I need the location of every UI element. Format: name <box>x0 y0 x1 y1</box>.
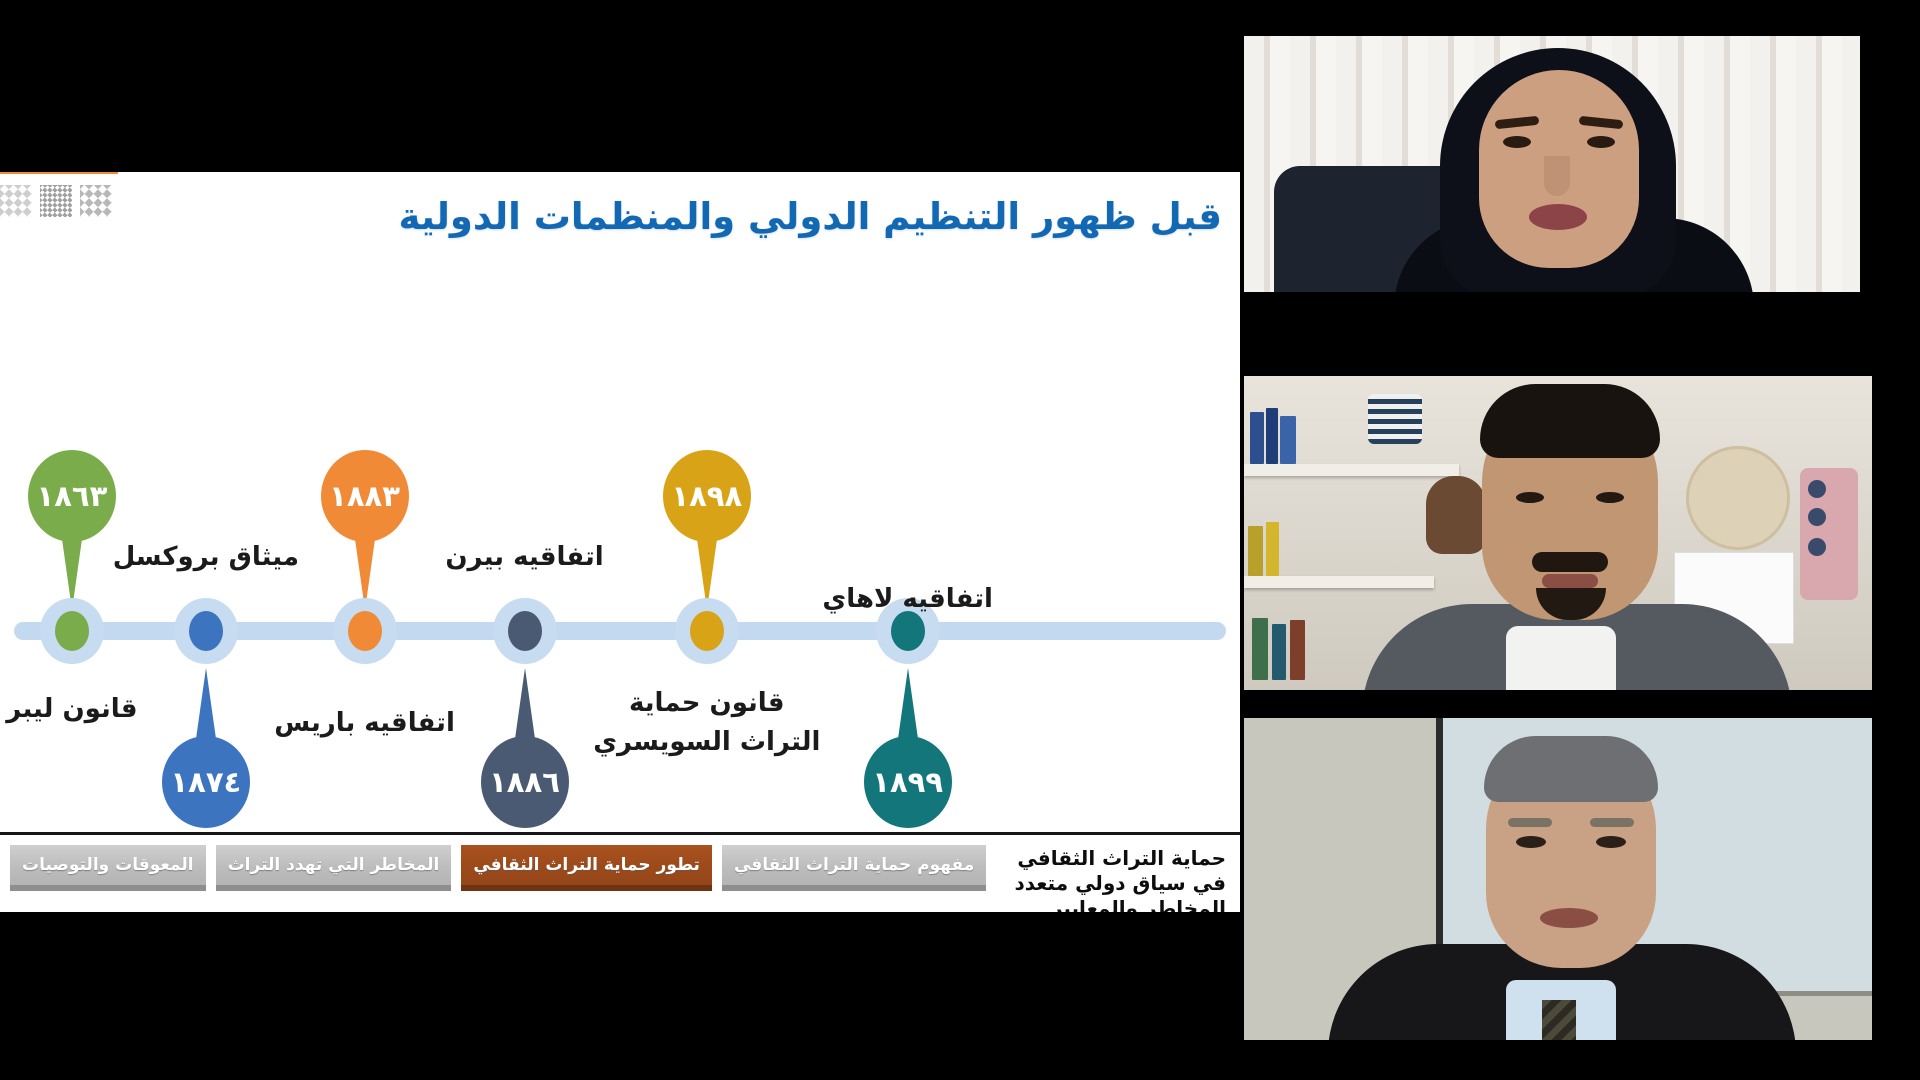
book <box>1252 618 1268 680</box>
eye-right <box>1596 492 1624 503</box>
dress-shirt <box>1506 626 1616 690</box>
timeline-year-badge: ١٨٨٦ <box>481 736 569 828</box>
mouth <box>1529 204 1587 230</box>
decorative-basket <box>1368 394 1422 444</box>
eye-left <box>1516 492 1544 503</box>
timeline-year-badge: ١٨٩٨ <box>663 450 751 542</box>
bookshelf <box>1244 464 1459 476</box>
timeline-pin: ١٨٦٣ <box>28 450 116 610</box>
book <box>1250 412 1264 464</box>
participant-video-tile[interactable] <box>1244 718 1872 1040</box>
timeline-pin: ١٨٨٦ <box>481 668 569 828</box>
video-feed <box>1244 376 1872 690</box>
nose <box>1544 156 1570 196</box>
eyebrow-left <box>1508 818 1552 827</box>
timeline-node[interactable] <box>333 598 397 664</box>
timeline-pin: ١٨٨٣ <box>321 450 409 610</box>
timeline-node[interactable] <box>174 598 238 664</box>
deck-title: حماية التراث الثقافي في سياق دولي متعدد … <box>996 845 1232 912</box>
timeline-year-badge: ١٨٧٤ <box>162 736 250 828</box>
nav-tab-obstacles[interactable]: المعوقات والتوصيات <box>10 845 206 891</box>
moustache <box>1532 552 1608 572</box>
decorative-plate <box>1686 446 1790 550</box>
eyebrow-right <box>1590 818 1634 827</box>
shared-slide[interactable]: قبل ظهور التنظيم الدولي والمنظمات الدولي… <box>0 172 1240 912</box>
timeline-node[interactable] <box>675 598 739 664</box>
necktie <box>1542 1000 1576 1040</box>
eye-right <box>1596 836 1626 848</box>
accent-bar <box>0 172 118 174</box>
timeline-graphic: ١٨٦٣ قانون ليبر ١٨٧٤ ميثاق بروكسل ١٨٨٣ <box>0 472 1240 802</box>
video-feed <box>1244 718 1872 1040</box>
timeline-pin: ١٨٩٩ <box>864 668 952 828</box>
timeline-event-label: اتفاقيه بيرن <box>395 538 655 577</box>
mouth <box>1540 908 1598 928</box>
timeline-year-badge: ١٨٦٣ <box>28 450 116 542</box>
bookshelf <box>1244 576 1434 588</box>
book <box>1248 526 1263 576</box>
book <box>1290 620 1305 680</box>
slide-section-nav: المعوقات والتوصيات المخاطر التي تهدد الت… <box>0 832 1240 912</box>
timeline-year-badge: ١٨٩٩ <box>864 736 952 828</box>
participant-video-tile[interactable] <box>1244 36 1860 292</box>
book <box>1266 522 1279 576</box>
nav-tab-concept[interactable]: مفهوم حماية التراث الثقافي <box>722 845 986 891</box>
smartphone <box>1800 468 1858 600</box>
hair <box>1480 384 1660 458</box>
mouth <box>1542 574 1598 588</box>
timeline-year-badge: ١٨٨٣ <box>321 450 409 542</box>
book <box>1272 624 1286 680</box>
timeline-pin: ١٨٩٨ <box>663 450 751 610</box>
nav-tab-risks[interactable]: المخاطر التي تهدد التراث <box>216 845 452 891</box>
hair <box>1484 736 1658 802</box>
timeline-event-label: ميثاق بروكسل <box>76 538 336 577</box>
eye-left <box>1516 836 1546 848</box>
book <box>1266 408 1278 464</box>
eyebrows <box>1479 118 1639 158</box>
video-feed <box>1244 36 1860 292</box>
book <box>1280 416 1296 464</box>
nav-tab-evolution[interactable]: تطور حماية التراث الثقافي <box>461 845 712 891</box>
lattice-decoration-icon <box>0 184 122 218</box>
meeting-window: قبل ظهور التنظيم الدولي والمنظمات الدولي… <box>0 0 1920 1080</box>
timeline-pin: ١٨٧٤ <box>162 668 250 828</box>
participant-video-tile[interactable] <box>1244 376 1872 690</box>
timeline-event-label: قانون حماية التراث السويسري <box>592 684 822 762</box>
timeline-event-label: اتفاقيه باريس <box>235 704 495 743</box>
slide-title: قبل ظهور التنظيم الدولي والمنظمات الدولي… <box>322 194 1222 240</box>
timeline-node[interactable] <box>493 598 557 664</box>
timeline-node[interactable] <box>40 598 104 664</box>
timeline-event-label: اتفاقيه لاهاي <box>778 580 1038 619</box>
decorative-hanging-bag <box>1426 476 1486 554</box>
